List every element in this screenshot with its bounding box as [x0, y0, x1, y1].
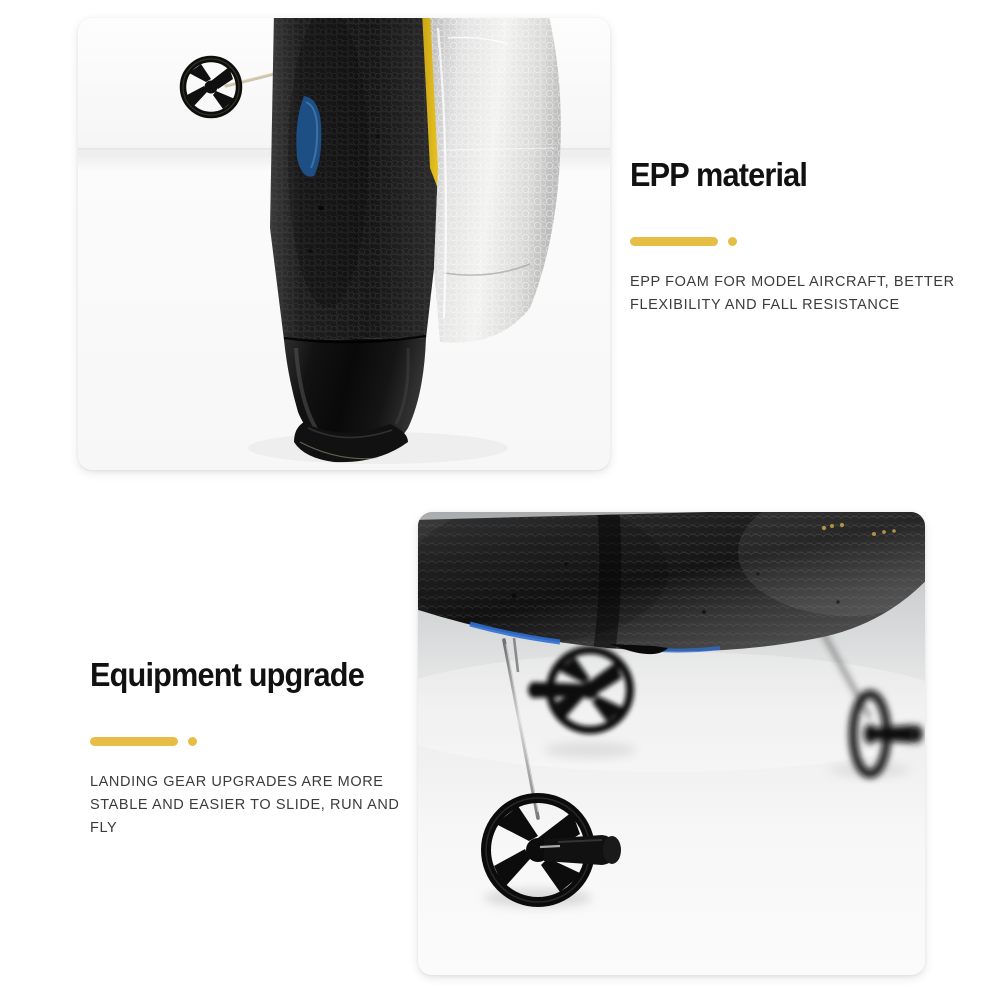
feature-block-epp-material: EPP material EPP FOAM FOR MODEL AIRCRAFT… — [630, 155, 960, 317]
feature-block-equipment-upgrade: Equipment upgrade LANDING GEAR UPGRADES … — [90, 655, 420, 840]
accent-bar-icon — [630, 237, 718, 246]
photo-equipment-upgrade — [418, 512, 925, 975]
accent-divider-equipment-upgrade — [90, 737, 420, 746]
feature-body-equipment-upgrade: LANDING GEAR UPGRADES ARE MORE STABLE AN… — [90, 771, 420, 840]
photo-epp-material — [78, 18, 610, 470]
accent-divider-epp-material — [630, 237, 960, 246]
accent-dot-icon — [188, 737, 197, 746]
accent-dot-icon — [728, 237, 737, 246]
feature-heading-equipment-upgrade: Equipment upgrade — [90, 655, 397, 695]
feature-body-epp-material: EPP FOAM FOR MODEL AIRCRAFT, BETTER FLEX… — [630, 271, 960, 317]
feature-heading-epp-material: EPP material — [630, 155, 937, 195]
accent-bar-icon — [90, 737, 178, 746]
product-feature-panel: EPP material EPP FOAM FOR MODEL AIRCRAFT… — [0, 0, 1000, 1000]
